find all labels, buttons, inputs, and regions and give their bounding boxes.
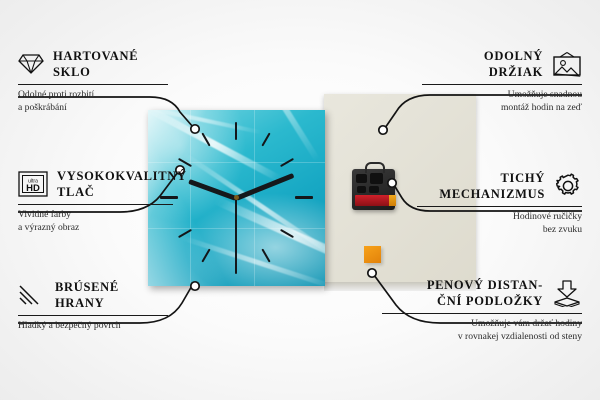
feature-desc-line2: a výrazný obraz: [18, 222, 79, 233]
feature-title-line1: ODOLNÝ: [484, 49, 543, 63]
picture-frame-icon: [552, 52, 582, 77]
hour-tick-1: [261, 133, 270, 147]
feature-title-line2: HRANY: [55, 296, 104, 310]
hour-tick-7: [201, 249, 210, 263]
feature-tempered-glass: HARTOVANÉ SKLO Odolné proti rozbití a po…: [18, 48, 168, 115]
divider: [417, 206, 582, 207]
feature-title-line1: PENOVÝ DISTAN-: [427, 278, 543, 292]
divider: [18, 315, 168, 316]
foam-spacer-pad: [364, 246, 381, 263]
hour-tick-3: [295, 196, 313, 199]
feature-desc-line2: a poškrábání: [18, 102, 67, 113]
infographic-canvas: HARTOVANÉ SKLO Odolné proti rozbití a po…: [0, 0, 600, 400]
feature-high-quality-print: ultra HD VYSOKOKVALITNÝ TLAČ Vividné far…: [18, 168, 173, 235]
glass-seam: [190, 110, 191, 286]
feature-desc-line1: Odolné proti rozbití: [18, 89, 94, 100]
feature-desc-line1: Umožňuje vám držať hodiny: [471, 318, 582, 329]
feature-silent-mechanism: TICHÝ MECHANIZMUS Hodinové ručičky bez z…: [417, 170, 582, 237]
diagonal-lines-icon: [18, 284, 46, 306]
mechanism-detail: [370, 173, 383, 184]
divider: [382, 313, 582, 314]
divider: [18, 204, 173, 205]
feature-polished-edges: BRÚSENÉ HRANY Hladký a bezpečný povrch: [18, 279, 168, 333]
battery-terminal: [389, 195, 396, 206]
feature-desc-line2: montáž hodin na zeď: [501, 102, 582, 113]
feature-title-line1: VYSOKOKVALITNÝ: [57, 169, 187, 183]
feature-title-line1: TICHÝ: [501, 171, 545, 185]
feature-desc-line1: Vividné farby: [18, 209, 71, 220]
mechanism-detail: [357, 186, 366, 193]
ultra-hd-icon: ultra HD: [18, 171, 48, 197]
diamond-icon: [18, 53, 44, 75]
glass-seam: [254, 110, 255, 286]
feature-desc-line1: Hladký a bezpečný povrch: [18, 320, 121, 331]
glass-seam: [148, 162, 325, 163]
feature-desc-line1: Umožňuje snadnou: [508, 89, 582, 100]
feature-desc-line2: bez zvuku: [543, 224, 582, 235]
clock-mechanism: [352, 169, 395, 210]
divider: [422, 84, 582, 85]
feature-desc-line2: v rovnakej vzdialenosti od steny: [458, 331, 582, 342]
mechanism-detail: [356, 174, 367, 183]
battery: [355, 195, 392, 206]
feature-title-line2: TLAČ: [57, 185, 95, 199]
feature-title-line2: MECHANIZMUS: [439, 187, 545, 201]
divider: [18, 84, 168, 85]
mechanism-detail: [369, 186, 379, 193]
mechanism-hook: [365, 162, 385, 173]
feature-title-line1: HARTOVANÉ: [53, 49, 138, 63]
svg-text:HD: HD: [26, 183, 40, 194]
second-hand: [235, 198, 237, 264]
feature-foam-spacers: PENOVÝ DISTAN- ČNÍ PODLOŽKY Umožňuje vám…: [382, 277, 582, 344]
feature-title-line2: DRŽIAK: [489, 65, 543, 79]
feature-title-line1: BRÚSENÉ: [55, 280, 119, 294]
feather-streak: [246, 110, 320, 162]
feature-durable-hanger: ODOLNÝ DRŽIAK Umožňuje snadnou montáž ho…: [422, 48, 582, 115]
down-arrow-stack-icon: [552, 280, 582, 307]
minute-hand: [235, 173, 294, 201]
gear-icon: [554, 172, 582, 200]
feature-desc-line1: Hodinové ručičky: [513, 211, 582, 222]
feature-title-line2: ČNÍ PODLOŽKY: [437, 294, 543, 308]
hour-tick-5: [261, 249, 270, 263]
clock-center-cap: [234, 195, 239, 200]
feature-title-line2: SKLO: [53, 65, 91, 79]
hour-tick-12: [235, 122, 237, 140]
